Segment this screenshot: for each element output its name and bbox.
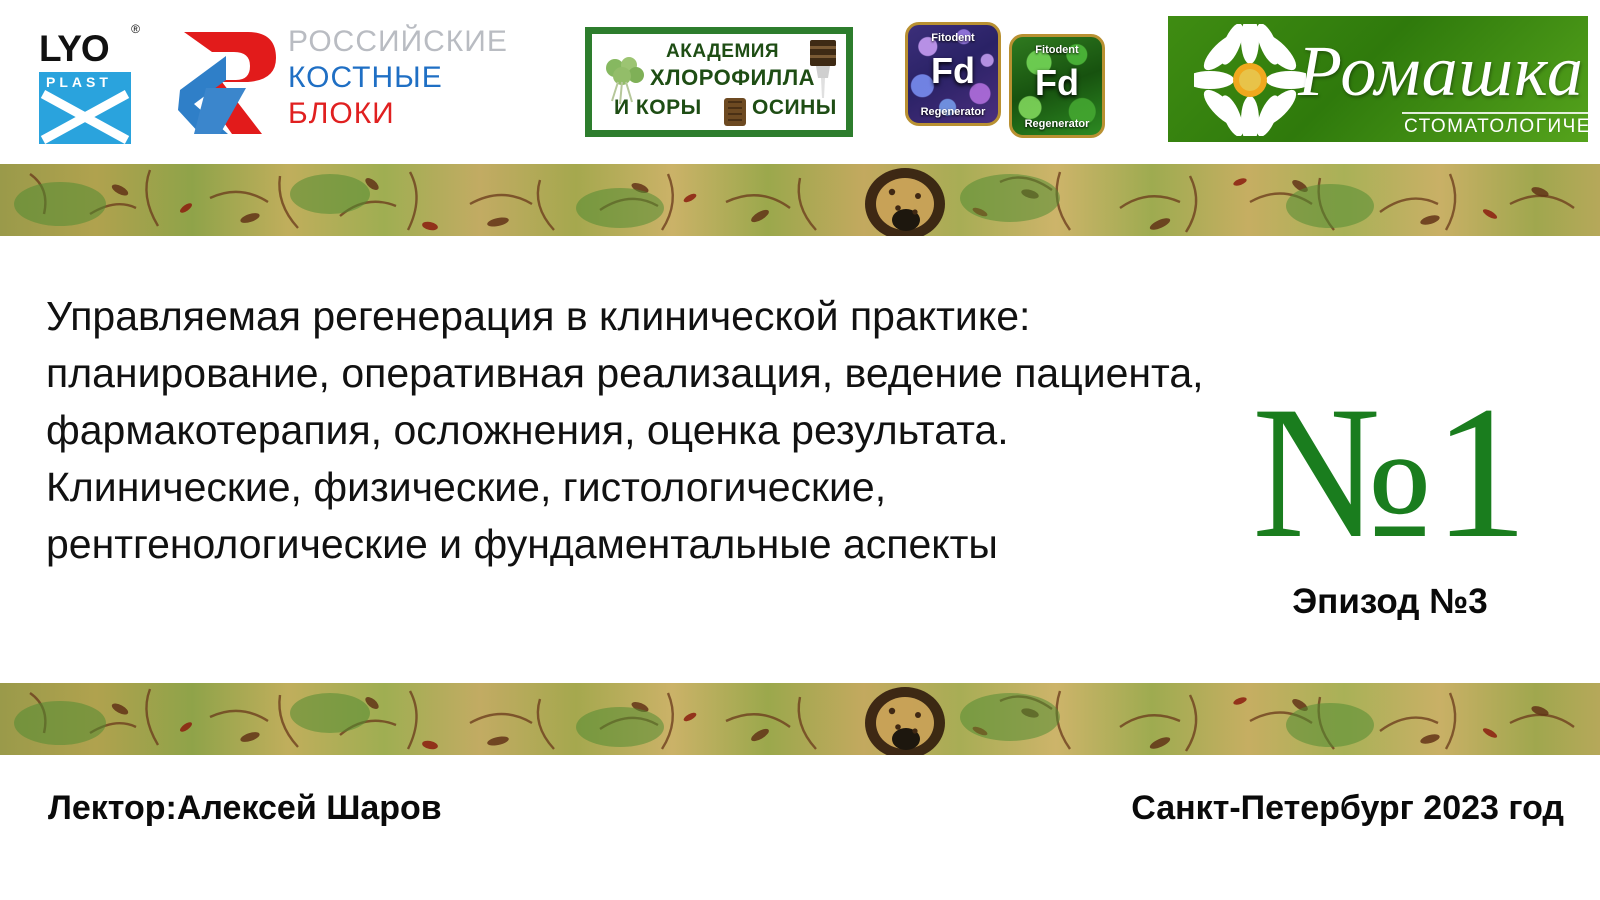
academy-line-4: ОСИНЫ bbox=[752, 96, 837, 120]
logo-russian-bone-blocks: РОССИЙСКИЕ КОСТНЫЕ БЛОКИ bbox=[176, 24, 536, 142]
lyoplast-butterfly-icon bbox=[39, 90, 131, 144]
aspen-bark-icon bbox=[722, 96, 748, 128]
fitodent-card-green: Fitodent Fd Regenerator bbox=[1009, 34, 1105, 138]
romashka-divider bbox=[1402, 112, 1588, 114]
academy-line-3: И КОРЫ bbox=[614, 96, 702, 120]
fitodent-card-green-bottom: Regenerator bbox=[1012, 118, 1102, 130]
logo-lyoplast: LYO ® PLAST bbox=[33, 24, 138, 146]
academy-line-2: ХЛОРОФИЛЛА bbox=[650, 65, 815, 91]
chlorophyll-academy-inner: АКАДЕМИЯ ХЛОРОФИЛЛА И КОРЫ ОСИНЫ bbox=[592, 34, 846, 130]
fitodent-card-violet-symbol: Fd bbox=[908, 51, 998, 91]
logo-fitodent-pair: Fitodent Fd Regenerator Fitodent Fd Rege… bbox=[905, 22, 1120, 148]
fitodent-card-green-symbol: Fd bbox=[1012, 63, 1102, 103]
slide-title: Управляемая регенерация в клинической пр… bbox=[46, 288, 1236, 573]
histology-texture-top-detail bbox=[0, 164, 1600, 236]
rbb-line-1: РОССИЙСКИЕ bbox=[288, 24, 538, 60]
fitodent-card-violet-bottom: Regenerator bbox=[908, 106, 998, 118]
issue-number-badge: №1 bbox=[1190, 378, 1590, 568]
lecturer-name: Лектор:Алексей Шаров bbox=[48, 789, 442, 828]
rbb-line-2: КОСТНЫЕ bbox=[288, 60, 538, 96]
romashka-wordmark: Ромашка bbox=[1298, 32, 1584, 110]
fitodent-card-green-top: Fitodent bbox=[1012, 44, 1102, 56]
academy-line-1: АКАДЕМИЯ bbox=[666, 41, 779, 63]
logo-romashka: Ромашка СТОМАТОЛОГИЧЕСКИЙ МАГАЗИН bbox=[1168, 16, 1588, 142]
registered-trademark-icon: ® bbox=[131, 22, 140, 36]
episode-label: Эпизод №3 bbox=[1190, 582, 1590, 622]
lyoplast-blue-box: PLAST bbox=[39, 72, 131, 144]
city-and-year: Санкт-Петербург 2023 год bbox=[1131, 789, 1564, 828]
lyoplast-sub-wordmark: PLAST bbox=[46, 74, 112, 90]
romashka-subtitle: СТОМАТОЛОГИЧЕСКИЙ МАГАЗИН bbox=[1404, 116, 1588, 138]
histology-texture-band-top bbox=[0, 164, 1600, 236]
sponsor-logo-bar: LYO ® PLAST РОССИЙСКИЕ КОСТНЫЕ БЛОКИ bbox=[0, 0, 1600, 164]
fitodent-card-violet: Fitodent Fd Regenerator bbox=[905, 22, 1001, 126]
presentation-slide: LYO ® PLAST РОССИЙСКИЕ КОСТНЫЕ БЛОКИ bbox=[0, 0, 1600, 900]
histology-texture-band-bottom bbox=[0, 683, 1600, 755]
rbb-wordmark: РОССИЙСКИЕ КОСТНЫЕ БЛОКИ bbox=[288, 24, 538, 132]
logo-chlorophyll-academy: АКАДЕМИЯ ХЛОРОФИЛЛА И КОРЫ ОСИНЫ bbox=[585, 27, 853, 137]
histology-texture-bottom-detail bbox=[0, 683, 1600, 755]
fitodent-card-violet-top: Fitodent bbox=[908, 32, 998, 44]
daisy-flower-icon bbox=[1194, 24, 1306, 136]
rbb-r-monogram-icon bbox=[176, 26, 286, 138]
rbb-line-3: БЛОКИ bbox=[288, 96, 538, 132]
lyoplast-wordmark: LYO bbox=[39, 26, 131, 72]
